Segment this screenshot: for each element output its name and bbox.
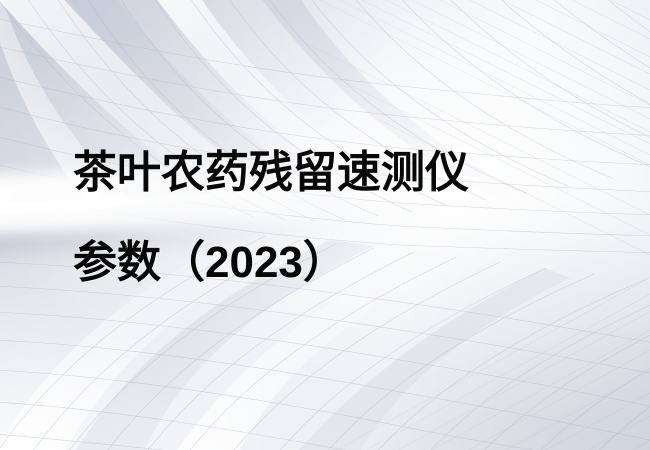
title-block: 茶叶农药残留速测仪 参数（2023） — [73, 128, 593, 308]
title-line-2: 参数（2023） — [73, 218, 593, 308]
title-banner: 茶叶农药残留速测仪 参数（2023） — [0, 0, 650, 450]
title-line-1: 茶叶农药残留速测仪 — [73, 128, 593, 218]
